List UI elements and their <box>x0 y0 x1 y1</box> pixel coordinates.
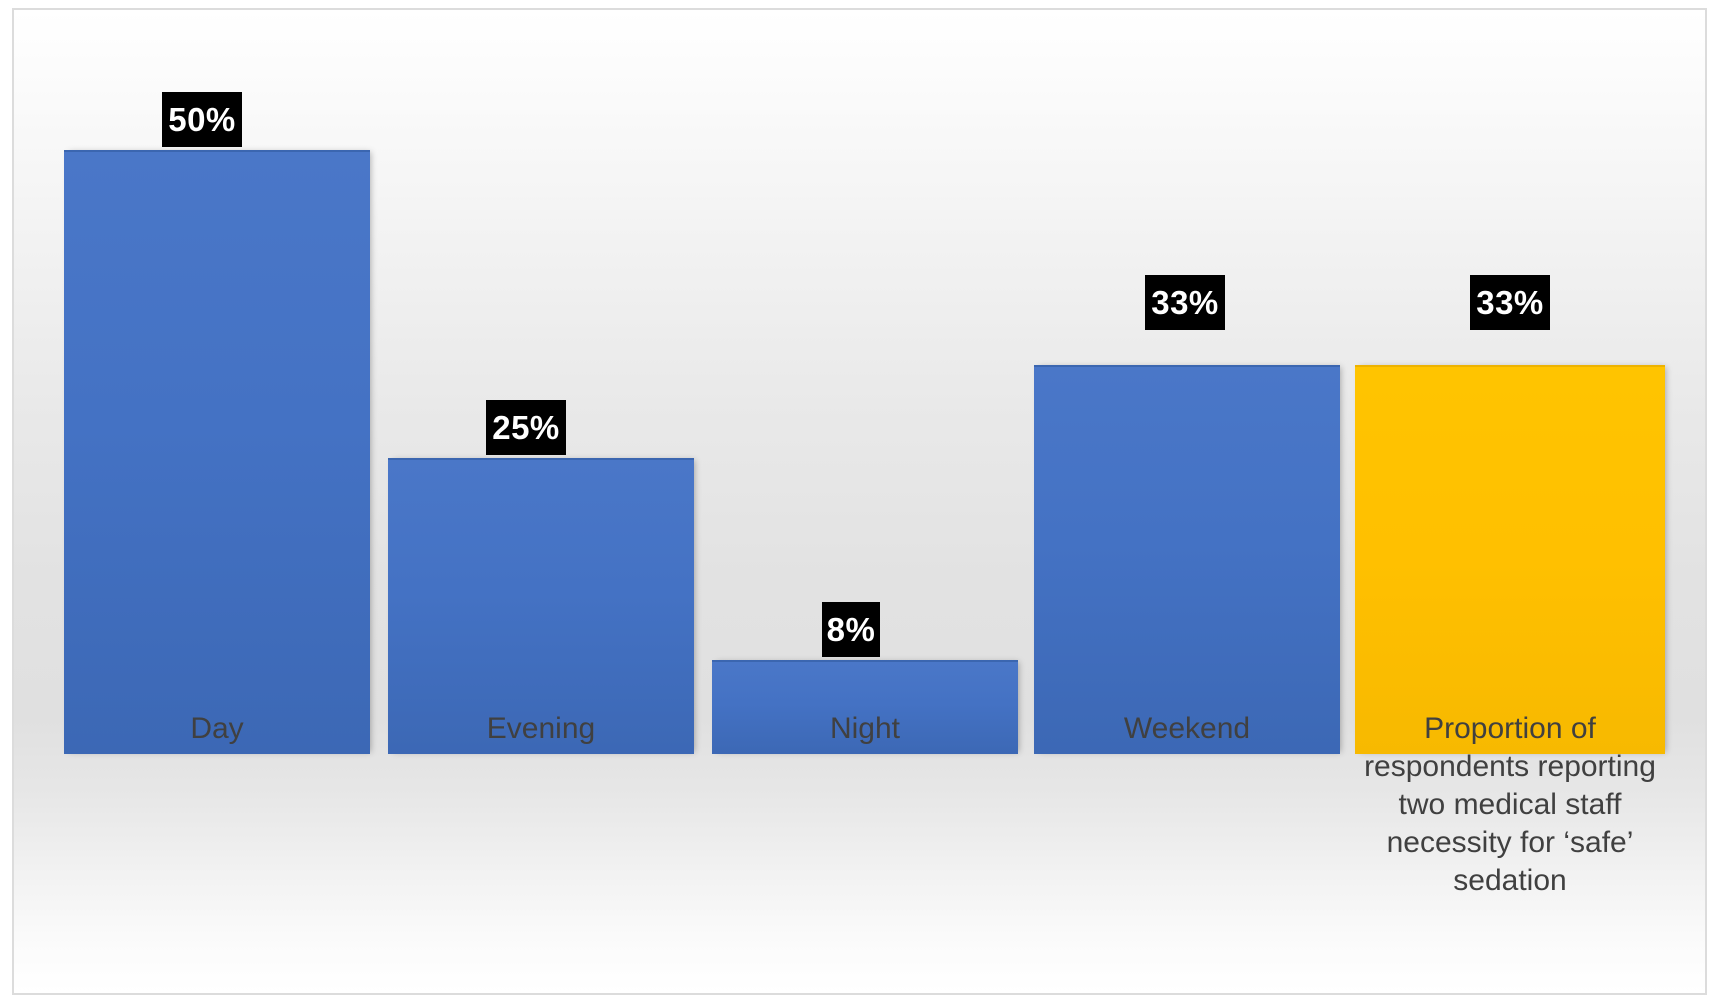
category-label-night: Night <box>712 710 1018 748</box>
bar-weekend[interactable] <box>1034 365 1340 754</box>
data-label-weekend: 33% <box>1145 275 1225 330</box>
bar-proportion[interactable] <box>1355 365 1665 754</box>
bar-day[interactable] <box>64 150 370 754</box>
data-label-night: 8% <box>822 602 880 657</box>
data-label-day: 50% <box>162 92 242 147</box>
data-label-evening: 25% <box>486 400 566 455</box>
plot-area: 50% 25% 8% 33% 33% Day Evening Night Wee… <box>14 10 1705 993</box>
category-label-proportion: Proportion of respondents reporting two … <box>1345 710 1675 900</box>
category-label-weekend: Weekend <box>1034 710 1340 748</box>
data-label-proportion: 33% <box>1470 275 1550 330</box>
category-label-day: Day <box>64 710 370 748</box>
chart-frame: 50% 25% 8% 33% 33% Day Evening Night Wee… <box>12 8 1707 995</box>
category-label-evening: Evening <box>388 710 694 748</box>
